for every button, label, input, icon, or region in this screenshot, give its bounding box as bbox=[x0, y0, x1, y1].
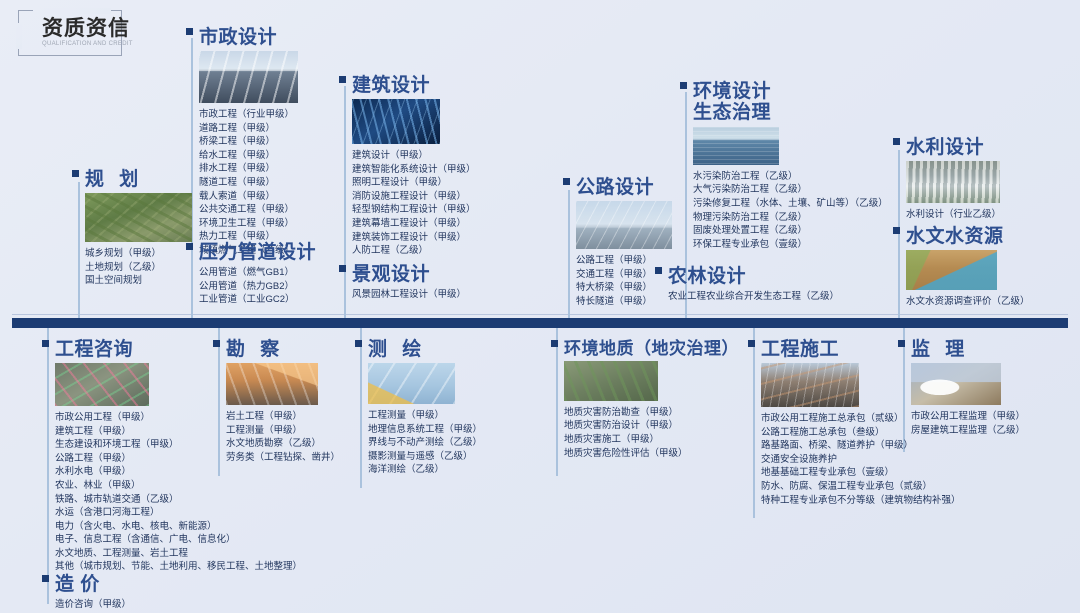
list-item: 地质灾害危险性评估（甲级） bbox=[564, 447, 751, 461]
list-item: 界线与不动产测绘（乙级） bbox=[368, 436, 535, 450]
bullet-icon bbox=[213, 340, 220, 347]
list-item: 建筑装饰工程设计（甲级） bbox=[352, 231, 539, 245]
list-item: 公用管道（燃气GB1） bbox=[199, 266, 346, 280]
node-geotechnical-investigation-items: 岩土工程（甲级） 工程测量（甲级） 水文地质勘察（乙级） 劳务类（工程钻探、凿井… bbox=[226, 410, 363, 464]
list-item: 水文地质、工程测量、岩土工程 bbox=[55, 547, 342, 561]
list-item: 环保工程专业承包（壹级） bbox=[693, 238, 910, 252]
node-hydrology-water-resources-thumbnail bbox=[906, 250, 997, 290]
list-item: 工程测量（甲级） bbox=[226, 424, 363, 438]
bullet-icon bbox=[42, 340, 49, 347]
list-item: 路基路面、桥梁、隧道养护（甲级） bbox=[761, 439, 998, 453]
node-hydrology-water-resources[interactable]: 水文水资源 水文水资源调查评价（乙级） bbox=[893, 227, 1068, 309]
node-architectural-design-title: 建筑设计 bbox=[352, 76, 430, 96]
list-item: 桥梁工程（甲级） bbox=[199, 135, 346, 149]
node-hydrology-water-resources-items: 水文水资源调查评价（乙级） bbox=[906, 295, 1068, 309]
node-geotechnical-investigation-head: 勘 察 bbox=[213, 340, 363, 360]
bullet-icon bbox=[186, 243, 193, 250]
node-landscape-design-title: 景观设计 bbox=[352, 265, 430, 285]
list-item: 地质灾害防治勘查（甲级） bbox=[564, 406, 751, 420]
node-water-conservancy-design-title: 水利设计 bbox=[906, 138, 984, 158]
list-item: 物理污染防治工程（乙级） bbox=[693, 211, 910, 225]
node-surveying-mapping-thumbnail bbox=[368, 363, 455, 404]
list-item: 房屋建筑工程监理（乙级） bbox=[911, 424, 1073, 438]
node-hydrology-water-resources-head: 水文水资源 bbox=[893, 227, 1068, 247]
list-item: 建筑幕墙工程设计（甲级） bbox=[352, 217, 539, 231]
list-item: 照明工程设计（甲级） bbox=[352, 176, 539, 190]
list-item: 土地规划（乙级） bbox=[85, 261, 192, 275]
list-item: 铁路、城市轨道交通（乙级） bbox=[55, 493, 342, 507]
list-item: 造价咨询（甲级） bbox=[55, 598, 262, 612]
node-surveying-mapping[interactable]: 测 绘 工程测量（甲级） 地理信息系统工程（甲级） 界线与不动产测绘（乙级） 摄… bbox=[355, 340, 535, 477]
node-water-conservancy-design-head: 水利设计 bbox=[893, 138, 1063, 158]
list-item: 其他（城市规划、节能、土地利用、移民工程、土地整理） bbox=[55, 560, 342, 574]
node-surveying-mapping-title: 测 绘 bbox=[368, 340, 426, 360]
list-item: 水污染防治工程（乙级） bbox=[693, 170, 910, 184]
node-architectural-design[interactable]: 建筑设计 建筑设计（甲级） 建筑智能化系统设计（甲级） 照明工程设计（甲级） 消… bbox=[339, 76, 539, 258]
list-item: 农业工程农业综合开发生态工程（乙级） bbox=[668, 290, 905, 304]
bullet-icon bbox=[748, 340, 755, 347]
list-item: 建筑智能化系统设计（甲级） bbox=[352, 163, 539, 177]
node-environmental-geology-title: 环境地质（地灾治理） bbox=[564, 340, 739, 358]
node-engineering-construction-thumbnail bbox=[761, 363, 859, 407]
node-water-conservancy-design-items: 水利设计（行业乙级） bbox=[906, 208, 1063, 222]
node-planning-thumbnail bbox=[85, 193, 192, 242]
node-environmental-geology-items: 地质灾害防治勘查（甲级） 地质灾害防治设计（甲级） 地质灾害施工（甲级） 地质灾… bbox=[564, 406, 751, 460]
list-item: 交通安全设施养护 bbox=[761, 453, 998, 467]
list-item: 水运（含港口河海工程） bbox=[55, 506, 342, 520]
node-environmental-design-subtitle: 生态治理 bbox=[693, 102, 910, 124]
node-water-conservancy-design-thumbnail bbox=[906, 161, 1000, 203]
logo-block: 资质资信 QUALIFICATION AND CREDIT bbox=[18, 10, 122, 56]
list-item: 市政工程（行业甲级） bbox=[199, 108, 346, 122]
node-landscape-design-items: 风景园林工程设计（甲级） bbox=[352, 288, 539, 302]
bullet-icon bbox=[551, 340, 558, 347]
bullet-icon bbox=[563, 178, 570, 185]
node-planning-title: 规 划 bbox=[85, 170, 143, 190]
node-environmental-geology-head: 环境地质（地灾治理） bbox=[551, 340, 751, 358]
bullet-icon bbox=[355, 340, 362, 347]
list-item: 人防工程（乙级） bbox=[352, 244, 539, 258]
bullet-icon bbox=[898, 340, 905, 347]
list-item: 摄影测量与遥感（乙级） bbox=[368, 450, 535, 464]
list-item: 地质灾害防治设计（甲级） bbox=[564, 419, 751, 433]
list-item: 水文水资源调查评价（乙级） bbox=[906, 295, 1068, 309]
list-item: 给水工程（甲级） bbox=[199, 149, 346, 163]
node-municipal-design-title: 市政设计 bbox=[199, 28, 277, 48]
list-item: 地质灾害施工（甲级） bbox=[564, 433, 751, 447]
node-water-conservancy-design[interactable]: 水利设计 水利设计（行业乙级） bbox=[893, 138, 1063, 222]
bullet-icon bbox=[339, 265, 346, 272]
node-cost-estimation-head: 造 价 bbox=[42, 575, 262, 595]
list-item: 工业管道（工业GC2） bbox=[199, 293, 346, 307]
list-item: 建筑设计（甲级） bbox=[352, 149, 539, 163]
bullet-icon bbox=[655, 267, 662, 274]
list-item: 水文地质勘察（乙级） bbox=[226, 437, 363, 451]
node-pressure-pipeline-design-head: 压力管道设计 bbox=[186, 243, 346, 263]
list-item: 轻型钢结构工程设计（甲级） bbox=[352, 203, 539, 217]
node-environmental-design-head: 环境设计 bbox=[680, 82, 910, 102]
node-architectural-design-items: 建筑设计（甲级） 建筑智能化系统设计（甲级） 照明工程设计（甲级） 消防设施工程… bbox=[352, 149, 539, 258]
node-pressure-pipeline-design-title: 压力管道设计 bbox=[199, 243, 316, 263]
node-environmental-design-title: 环境设计 bbox=[693, 82, 771, 102]
node-environmental-design[interactable]: 环境设计 生态治理 水污染防治工程（乙级） 大气污染防治工程（乙级） 污染修复工… bbox=[680, 82, 910, 251]
list-item: 市政公用工程监理（甲级） bbox=[911, 410, 1073, 424]
list-item: 道路工程（甲级） bbox=[199, 122, 346, 136]
list-item: 隧道工程（甲级） bbox=[199, 176, 346, 190]
node-cost-estimation-title: 造 价 bbox=[55, 575, 100, 595]
node-landscape-design[interactable]: 景观设计 风景园林工程设计（甲级） bbox=[339, 265, 539, 302]
node-cost-estimation-items: 造价咨询（甲级） bbox=[55, 598, 262, 612]
node-supervision-head: 监 理 bbox=[898, 340, 1073, 360]
node-supervision-title: 监 理 bbox=[911, 340, 969, 360]
list-item: 特种工程专业承包不分等级（建筑物结构补强） bbox=[761, 494, 998, 508]
node-surveying-mapping-head: 测 绘 bbox=[355, 340, 535, 360]
list-item: 工程测量（甲级） bbox=[368, 409, 535, 423]
list-item: 风景园林工程设计（甲级） bbox=[352, 288, 539, 302]
node-geotechnical-investigation[interactable]: 勘 察 岩土工程（甲级） 工程测量（甲级） 水文地质勘察（乙级） 劳务类（工程钻… bbox=[213, 340, 363, 464]
node-agriculture-forestry-design-items: 农业工程农业综合开发生态工程（乙级） bbox=[668, 290, 905, 304]
node-supervision[interactable]: 监 理 市政公用工程监理（甲级） 房屋建筑工程监理（乙级） bbox=[898, 340, 1073, 437]
list-item: 农业、林业（甲级） bbox=[55, 479, 342, 493]
list-item: 公共交通工程（甲级） bbox=[199, 203, 346, 217]
node-environmental-geology-thumbnail bbox=[564, 361, 658, 401]
bullet-icon bbox=[680, 82, 687, 89]
list-item: 地理信息系统工程（甲级） bbox=[368, 423, 535, 437]
bullet-icon bbox=[42, 575, 49, 582]
list-item: 大气污染防治工程（乙级） bbox=[693, 183, 910, 197]
node-highway-design-title: 公路设计 bbox=[576, 178, 654, 198]
list-item: 水利水电（甲级） bbox=[55, 465, 342, 479]
node-engineering-consulting-title: 工程咨询 bbox=[55, 340, 133, 360]
list-item: 污染修复工程（水体、土壤、矿山等）（乙级） bbox=[693, 197, 910, 211]
node-surveying-mapping-items: 工程测量（甲级） 地理信息系统工程（甲级） 界线与不动产测绘（乙级） 摄影测量与… bbox=[368, 409, 535, 477]
bullet-icon bbox=[339, 76, 346, 83]
node-architectural-design-head: 建筑设计 bbox=[339, 76, 539, 96]
spine-hairline bbox=[12, 314, 1068, 315]
bullet-icon bbox=[186, 28, 193, 35]
node-hydrology-water-resources-title: 水文水资源 bbox=[906, 227, 1004, 247]
list-item: 岩土工程（甲级） bbox=[226, 410, 363, 424]
node-geotechnical-investigation-thumbnail bbox=[226, 363, 318, 405]
list-item: 地基基础工程专业承包（壹级） bbox=[761, 466, 998, 480]
list-item: 防水、防腐、保温工程专业承包（贰级） bbox=[761, 480, 998, 494]
list-item: 电子、信息工程（含通信、广电、信息化） bbox=[55, 533, 342, 547]
logo-subtitle: QUALIFICATION AND CREDIT bbox=[42, 41, 133, 47]
node-pressure-pipeline-design[interactable]: 压力管道设计 公用管道（燃气GB1） 公用管道（热力GB2） 工业管道（工业GC… bbox=[186, 243, 346, 307]
list-item: 国土空间规划 bbox=[85, 274, 192, 288]
node-agriculture-forestry-design-title: 农林设计 bbox=[668, 267, 746, 287]
bullet-icon bbox=[893, 227, 900, 234]
list-item: 环境卫生工程（甲级） bbox=[199, 217, 346, 231]
list-item: 公用管道（热力GB2） bbox=[199, 280, 346, 294]
node-planning-items: 城乡规划（甲级） 土地规划（乙级） 国土空间规划 bbox=[85, 247, 192, 288]
node-municipal-design[interactable]: 市政设计 市政工程（行业甲级） 道路工程（甲级） 桥梁工程（甲级） 给水工程（甲… bbox=[186, 28, 346, 257]
list-item: 排水工程（甲级） bbox=[199, 162, 346, 176]
node-municipal-design-thumbnail bbox=[199, 51, 298, 103]
list-item: 海洋测绘（乙级） bbox=[368, 463, 535, 477]
node-engineering-construction-title: 工程施工 bbox=[761, 340, 839, 360]
node-environmental-design-items: 水污染防治工程（乙级） 大气污染防治工程（乙级） 污染修复工程（水体、土壤、矿山… bbox=[693, 170, 910, 252]
list-item: 城乡规划（甲级） bbox=[85, 247, 192, 261]
list-item: 固废处理处置工程（乙级） bbox=[693, 224, 910, 238]
node-pressure-pipeline-design-items: 公用管道（燃气GB1） 公用管道（热力GB2） 工业管道（工业GC2） bbox=[199, 266, 346, 307]
node-environmental-design-thumbnail bbox=[693, 127, 779, 165]
list-item: 电力（含火电、水电、核电、新能源） bbox=[55, 520, 342, 534]
node-highway-design-thumbnail bbox=[576, 201, 672, 249]
list-item: 消防设施工程设计（甲级） bbox=[352, 190, 539, 204]
node-landscape-design-head: 景观设计 bbox=[339, 265, 539, 285]
bullet-icon bbox=[72, 170, 79, 177]
node-agriculture-forestry-design-head: 农林设计 bbox=[655, 267, 905, 287]
node-planning[interactable]: 规 划 城乡规划（甲级） 土地规划（乙级） 国土空间规划 bbox=[72, 170, 192, 288]
node-cost-estimation[interactable]: 造 价 造价咨询（甲级） bbox=[42, 575, 262, 612]
node-supervision-items: 市政公用工程监理（甲级） 房屋建筑工程监理（乙级） bbox=[911, 410, 1073, 437]
node-engineering-consulting-thumbnail bbox=[55, 363, 149, 406]
bullet-icon bbox=[893, 138, 900, 145]
node-supervision-thumbnail bbox=[911, 363, 1001, 405]
timeline-spine-bar bbox=[12, 318, 1068, 328]
node-municipal-design-head: 市政设计 bbox=[186, 28, 346, 48]
list-item: 载人索道（甲级） bbox=[199, 190, 346, 204]
list-item: 劳务类（工程钻探、凿井） bbox=[226, 451, 363, 465]
node-agriculture-forestry-design[interactable]: 农林设计 农业工程农业综合开发生态工程（乙级） bbox=[655, 267, 905, 304]
node-architectural-design-thumbnail bbox=[352, 99, 440, 144]
node-planning-head: 规 划 bbox=[72, 170, 192, 190]
node-environmental-geology[interactable]: 环境地质（地灾治理） 地质灾害防治勘查（甲级） 地质灾害防治设计（甲级） 地质灾… bbox=[551, 340, 751, 460]
infographic-canvas: 资质资信 QUALIFICATION AND CREDIT 规 划 城乡规划（甲… bbox=[0, 0, 1080, 613]
node-geotechnical-investigation-title: 勘 察 bbox=[226, 340, 284, 360]
node-municipal-design-items: 市政工程（行业甲级） 道路工程（甲级） 桥梁工程（甲级） 给水工程（甲级） 排水… bbox=[199, 108, 346, 258]
logo-title: 资质资信 bbox=[42, 18, 130, 39]
list-item: 水利设计（行业乙级） bbox=[906, 208, 1063, 222]
